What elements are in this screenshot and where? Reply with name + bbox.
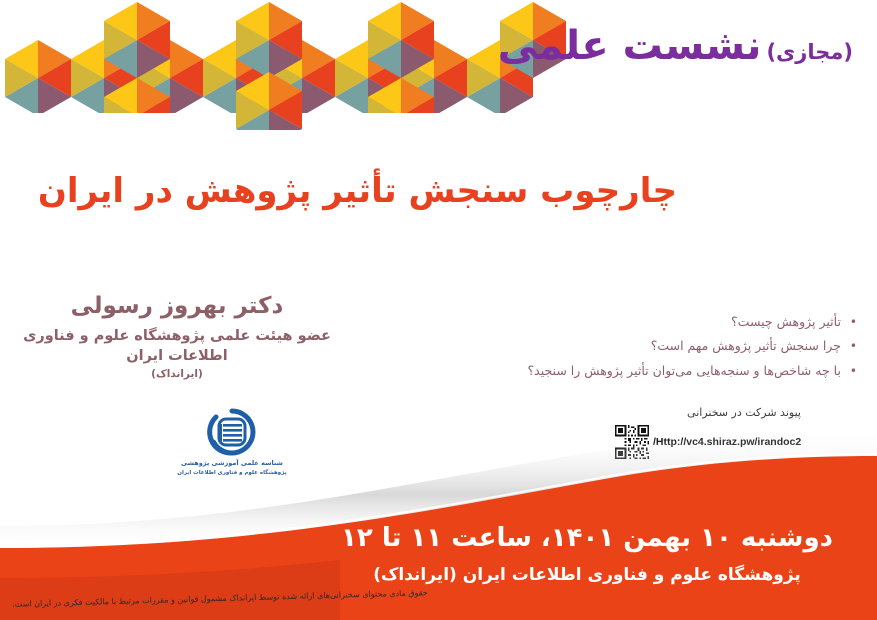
list-item: • با چه شاخص‌ها و سنجه‌هایی می‌توان تأثی… (557, 359, 857, 383)
topic-list: • تأثیر پژوهش چیست؟ • چرا سنجش تأثیر پژو… (557, 310, 857, 383)
event-datetime: دوشنبه ۱۰ بهمن ۱۴۰۱، ساعت ۱۱ تا ۱۲ (337, 521, 837, 556)
speaker-affiliation: عضو هیئت علمی پژوهشگاه علوم و فناوری اطل… (22, 326, 332, 367)
footer-details: دوشنبه ۱۰ بهمن ۱۴۰۱، ساعت ۱۱ تا ۱۲ پژوهش… (337, 521, 837, 588)
bullet-dot-icon: • (850, 360, 857, 383)
speaker-affiliation-short: (ایرانداک) (22, 368, 332, 380)
seminar-kicker: (مجازی) نشست علمی (498, 26, 853, 66)
join-link-label: پیوند شرکت در سخنرانی (615, 406, 845, 419)
list-item-label: تأثیر پژوهش چیست؟ (731, 314, 841, 329)
poster-title: چارچوب سنجش تأثیر پژوهش در ایران (177, 170, 677, 213)
list-item: • چرا سنجش تأثیر پژوهش مهم است؟ (557, 334, 857, 358)
event-venue: پژوهشگاه علوم و فناوری اطلاعات ایران (ای… (337, 563, 837, 589)
bullet-dot-icon: • (850, 335, 857, 358)
event-poster: (مجازی) نشست علمی چارچوب سنجش تأثیر پژوه… (0, 0, 877, 620)
bullet-dot-icon: • (850, 311, 857, 334)
list-item: • تأثیر پژوهش چیست؟ (557, 310, 857, 334)
list-item-label: با چه شاخص‌ها و سنجه‌هایی می‌توان تأثیر … (528, 363, 841, 378)
speaker-info: دکتر بهروز رسولی عضو هیئت علمی پژوهشگاه … (22, 292, 332, 380)
speaker-name: دکتر بهروز رسولی (22, 292, 332, 322)
kicker-subtitle: (مجازی) (766, 40, 853, 64)
list-item-label: چرا سنجش تأثیر پژوهش مهم است؟ (651, 338, 841, 353)
kicker-title: نشست علمی (498, 23, 762, 69)
